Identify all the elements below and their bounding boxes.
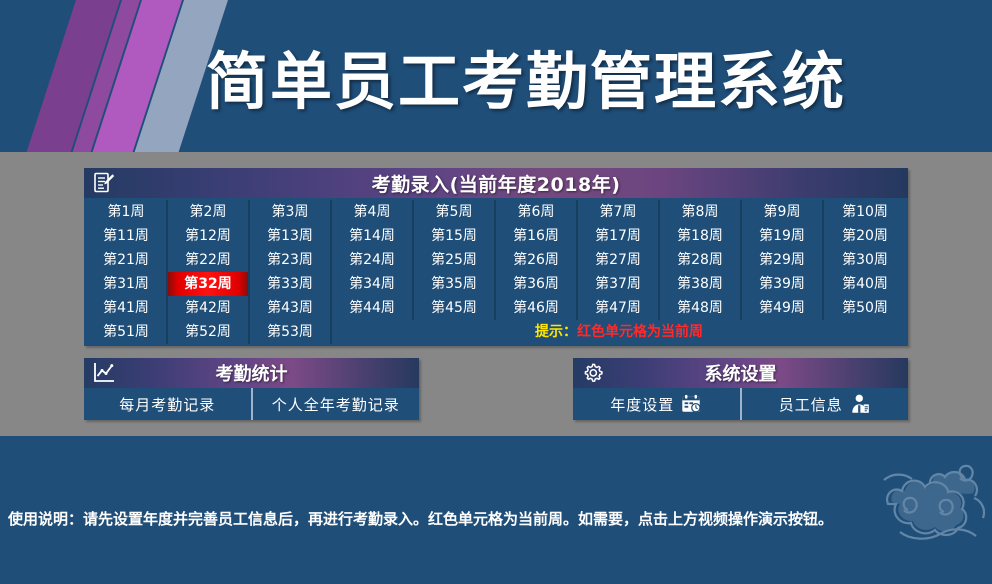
- week-cell[interactable]: 第15周: [414, 224, 496, 248]
- attendance-stats-panel: 考勤统计 每月考勤记录 个人全年考勤记录: [84, 358, 419, 420]
- week-cell[interactable]: 第7周: [578, 200, 660, 224]
- week-cell[interactable]: 第4周: [332, 200, 414, 224]
- monthly-record-button[interactable]: 每月考勤记录: [84, 388, 251, 420]
- week-cell[interactable]: 第41周: [86, 296, 168, 320]
- line-chart-icon: [92, 361, 116, 385]
- employee-info-button[interactable]: 员工信息: [740, 388, 909, 420]
- week-cell[interactable]: 第6周: [496, 200, 578, 224]
- week-cell[interactable]: 第51周: [86, 320, 168, 344]
- week-cell[interactable]: 第49周: [742, 296, 824, 320]
- week-cell[interactable]: 第10周: [824, 200, 906, 224]
- week-cell[interactable]: 第47周: [578, 296, 660, 320]
- week-cell[interactable]: 第36周: [496, 272, 578, 296]
- system-settings-title: 系统设置: [705, 360, 777, 386]
- week-cell[interactable]: 第21周: [86, 248, 168, 272]
- week-cell[interactable]: 第40周: [824, 272, 906, 296]
- week-cell[interactable]: 第53周: [250, 320, 332, 344]
- footer-bar: 使用说明：请先设置年度并完善员工信息后，再进行考勤录入。红色单元格为当前周。如需…: [0, 436, 992, 584]
- week-cell[interactable]: 第3周: [250, 200, 332, 224]
- auspicious-cloud-pattern-icon: [878, 440, 992, 554]
- week-cell[interactable]: 第12周: [168, 224, 250, 248]
- week-cell[interactable]: 第14周: [332, 224, 414, 248]
- week-cell[interactable]: 第5周: [414, 200, 496, 224]
- week-cell[interactable]: 第25周: [414, 248, 496, 272]
- week-cell[interactable]: 第18周: [660, 224, 742, 248]
- week-cell[interactable]: 第26周: [496, 248, 578, 272]
- year-settings-label: 年度设置: [610, 394, 674, 415]
- week-cell[interactable]: 第48周: [660, 296, 742, 320]
- personal-annual-record-button[interactable]: 个人全年考勤记录: [251, 388, 420, 420]
- week-cell-current[interactable]: 第32周: [168, 272, 250, 296]
- week-cell[interactable]: 第16周: [496, 224, 578, 248]
- week-cell[interactable]: 第42周: [168, 296, 250, 320]
- week-grid: 第1周第2周第3周第4周第5周第6周第7周第8周第9周第10周第11周第12周第…: [84, 198, 908, 344]
- system-settings-header: 系统设置: [573, 358, 908, 388]
- week-cell[interactable]: 第27周: [578, 248, 660, 272]
- week-cell[interactable]: 第37周: [578, 272, 660, 296]
- week-cell[interactable]: 第33周: [250, 272, 332, 296]
- system-settings-panel: 系统设置 年度设置 员工信息: [573, 358, 908, 420]
- week-cell[interactable]: 第34周: [332, 272, 414, 296]
- week-cell[interactable]: 第20周: [824, 224, 906, 248]
- person-icon: [849, 393, 871, 415]
- week-cell[interactable]: 第17周: [578, 224, 660, 248]
- week-cell[interactable]: 第1周: [86, 200, 168, 224]
- week-cell[interactable]: 第35周: [414, 272, 496, 296]
- week-cell[interactable]: 第30周: [824, 248, 906, 272]
- week-cell[interactable]: 第44周: [332, 296, 414, 320]
- week-cell[interactable]: 第8周: [660, 200, 742, 224]
- document-edit-icon: [92, 171, 116, 195]
- attendance-entry-header: 考勤录入(当前年度2018年): [84, 168, 908, 198]
- week-cell[interactable]: 第22周: [168, 248, 250, 272]
- calendar-icon: [680, 393, 702, 415]
- week-cell[interactable]: 第13周: [250, 224, 332, 248]
- week-cell[interactable]: 第50周: [824, 296, 906, 320]
- week-cell[interactable]: 第39周: [742, 272, 824, 296]
- attendance-entry-title: 考勤录入(当前年度2018年): [372, 170, 621, 197]
- week-cell[interactable]: 第11周: [86, 224, 168, 248]
- usage-instructions: 使用说明：请先设置年度并完善员工信息后，再进行考勤录入。红色单元格为当前周。如需…: [8, 508, 833, 529]
- year-settings-button[interactable]: 年度设置: [573, 388, 740, 420]
- week-cell[interactable]: 第24周: [332, 248, 414, 272]
- hint-label: 提示：: [535, 324, 577, 340]
- hint-text: 红色单元格为当前周: [577, 324, 703, 340]
- system-settings-buttons: 年度设置 员工信息: [573, 388, 908, 420]
- gear-icon: [581, 361, 605, 385]
- week-cell[interactable]: 第9周: [742, 200, 824, 224]
- current-week-hint: 提示：红色单元格为当前周: [332, 320, 906, 344]
- employee-info-label: 员工信息: [779, 394, 843, 415]
- week-cell[interactable]: 第38周: [660, 272, 742, 296]
- week-cell[interactable]: 第19周: [742, 224, 824, 248]
- attendance-entry-panel: 考勤录入(当前年度2018年) 第1周第2周第3周第4周第5周第6周第7周第8周…: [84, 168, 908, 346]
- week-cell[interactable]: 第2周: [168, 200, 250, 224]
- week-cell[interactable]: 第23周: [250, 248, 332, 272]
- week-cell[interactable]: 第28周: [660, 248, 742, 272]
- app-header: 简单员工考勤管理系统: [0, 0, 992, 152]
- personal-annual-record-label: 个人全年考勤记录: [272, 394, 400, 415]
- week-cell[interactable]: 第29周: [742, 248, 824, 272]
- week-cell[interactable]: 第46周: [496, 296, 578, 320]
- app-title: 简单员工考勤管理系统: [0, 0, 992, 152]
- attendance-stats-header: 考勤统计: [84, 358, 419, 388]
- week-cell[interactable]: 第45周: [414, 296, 496, 320]
- attendance-stats-buttons: 每月考勤记录 个人全年考勤记录: [84, 388, 419, 420]
- attendance-stats-title: 考勤统计: [216, 360, 288, 386]
- week-cell[interactable]: 第31周: [86, 272, 168, 296]
- week-cell[interactable]: 第43周: [250, 296, 332, 320]
- monthly-record-label: 每月考勤记录: [119, 394, 215, 415]
- week-cell[interactable]: 第52周: [168, 320, 250, 344]
